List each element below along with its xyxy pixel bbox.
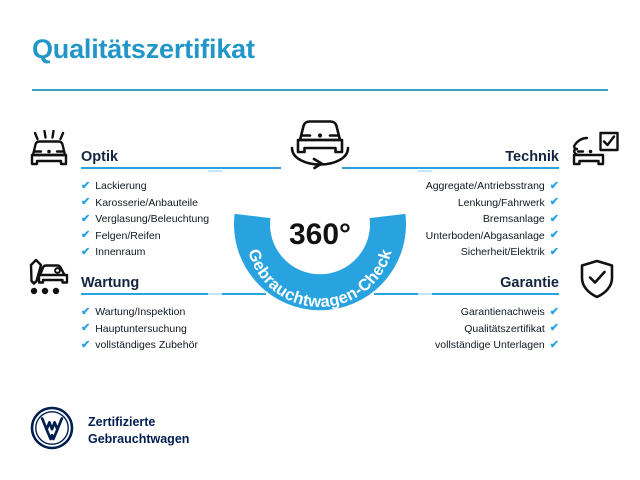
list-item-label: Lenkung/Fahrwerk [458,195,545,212]
page-title: Qualitätszertifikat [32,34,255,65]
check-icon: ✔ [81,307,90,318]
list-item-label: Unterboden/Abgasanlage [426,228,545,245]
check-icon: ✔ [550,340,559,351]
list-item-label: vollständige Unterlagen [435,337,545,354]
section-wartung-title: Wartung [81,275,139,291]
list-item-label: Bremsanlage [483,211,545,228]
footer-line-2: Gebrauchtwagen [88,431,189,448]
badge-center-label: 360° [228,218,412,252]
list-item-label: Verglasung/Beleuchtung [95,211,209,228]
check-icon: ✔ [81,214,90,225]
list-item: ✔vollständiges Zubehör [81,337,281,354]
connector-tick-left [208,170,222,172]
list-item: vollständige Unterlagen✔ [359,337,559,354]
list-item-label: Karosserie/Anbauteile [95,195,198,212]
check-icon: ✔ [81,247,90,258]
check-icon: ✔ [550,197,559,208]
shield-check-icon [578,258,616,305]
list-item: ✔Hauptuntersuchung [81,321,281,338]
check-icon: ✔ [550,181,559,192]
section-garantie-title: Garantie [500,275,559,291]
section-optik-title: Optik [81,149,118,165]
car-open-hood-checkbox-icon [570,130,620,177]
check-icon: ✔ [550,247,559,258]
footer-text: Zertifizierte Gebrauchtwagen [88,414,189,448]
certificate-page: Qualitätszertifikat [0,0,640,480]
check-icon: ✔ [81,340,90,351]
list-item-label: Hauptuntersuchung [95,321,187,338]
check-icon: ✔ [550,214,559,225]
volkswagen-logo [30,406,74,455]
connector-tick-left-lower [208,293,222,295]
section-technik-title: Technik [505,149,559,165]
check-icon: ✔ [81,197,90,208]
footer-line-1: Zertifizierte [88,414,189,431]
check-icon: ✔ [550,323,559,334]
badge-360-gebrauchtwagen-check: Gebrauchtwagen-Check 360° [228,112,412,312]
list-item-label: Wartung/Inspektion [95,304,185,321]
check-icon: ✔ [550,230,559,241]
list-item-label: Sicherheit/Elektrik [461,244,545,261]
list-item-label: Lackierung [95,178,146,195]
pen-car-service-icon [26,257,72,304]
check-icon: ✔ [81,181,90,192]
check-icon: ✔ [81,230,90,241]
list-item-label: Aggregate/Antriebsstrang [426,178,545,195]
list-item-label: Qualitätszertifikat [464,321,545,338]
list-item-label: Garantienachweis [461,304,545,321]
title-divider [32,89,608,91]
connector-tick-right [418,170,432,172]
check-icon: ✔ [81,323,90,334]
footer-brand: Zertifizierte Gebrauchtwagen [30,406,189,455]
list-item-label: Innenraum [95,244,145,261]
connector-tick-right-lower [418,293,432,295]
list-item: Qualitätszertifikat✔ [359,321,559,338]
list-item-label: vollständiges Zubehör [95,337,198,354]
check-icon: ✔ [550,307,559,318]
list-item-label: Felgen/Reifen [95,228,160,245]
car-front-headlights-icon [26,130,72,177]
